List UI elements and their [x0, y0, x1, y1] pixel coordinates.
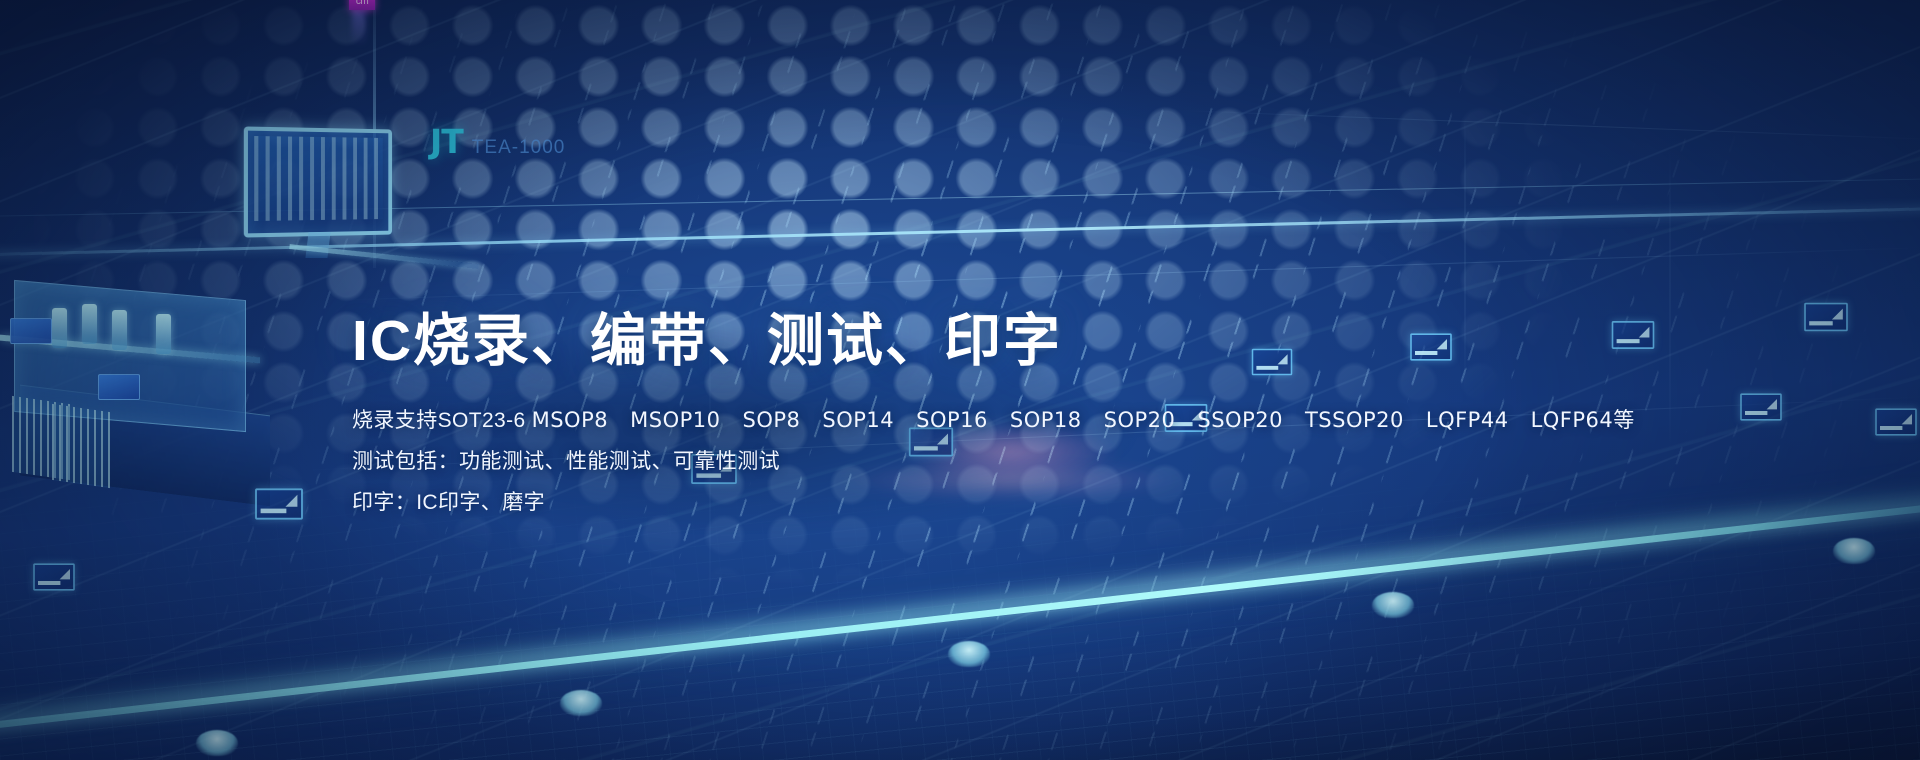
- service-detail-list: 烧录支持SOT23-6 MSOP8 MSOP10 SOP8 SOP14 SOP1…: [352, 400, 1612, 524]
- package-tag: MSOP8: [532, 400, 609, 441]
- package-tag: LQFP64等: [1531, 400, 1635, 441]
- package-tag: MSOP10: [630, 400, 720, 441]
- burn-support-lead: 烧录支持SOT23-6: [352, 401, 526, 442]
- package-tag: SOP14: [822, 400, 894, 441]
- package-tag: SOP18: [1010, 400, 1082, 441]
- printing-scope-line: 印字：IC印字、磨字: [352, 483, 1612, 524]
- ic-service-banner: cm JT TEA-1000 IC烧录、编带、测试、印字 烧录支持SOT23-6…: [0, 0, 1920, 760]
- page-title: IC烧录、编带、测试、印字: [352, 310, 1612, 374]
- package-tag: SOP20: [1104, 400, 1176, 441]
- package-tag: SOP8: [743, 400, 801, 441]
- burn-support-line: 烧录支持SOT23-6 MSOP8 MSOP10 SOP8 SOP14 SOP1…: [352, 400, 1612, 442]
- package-tag: LQFP44: [1426, 400, 1509, 441]
- package-tag: TSSOP20: [1305, 400, 1404, 441]
- package-tag: SOP16: [916, 400, 988, 441]
- banner-content: IC烧录、编带、测试、印字 烧录支持SOT23-6 MSOP8 MSOP10 S…: [352, 310, 1612, 524]
- test-scope-line: 测试包括：功能测试、性能测试、可靠性测试: [352, 442, 1612, 483]
- package-tag: SSOP20: [1197, 400, 1283, 441]
